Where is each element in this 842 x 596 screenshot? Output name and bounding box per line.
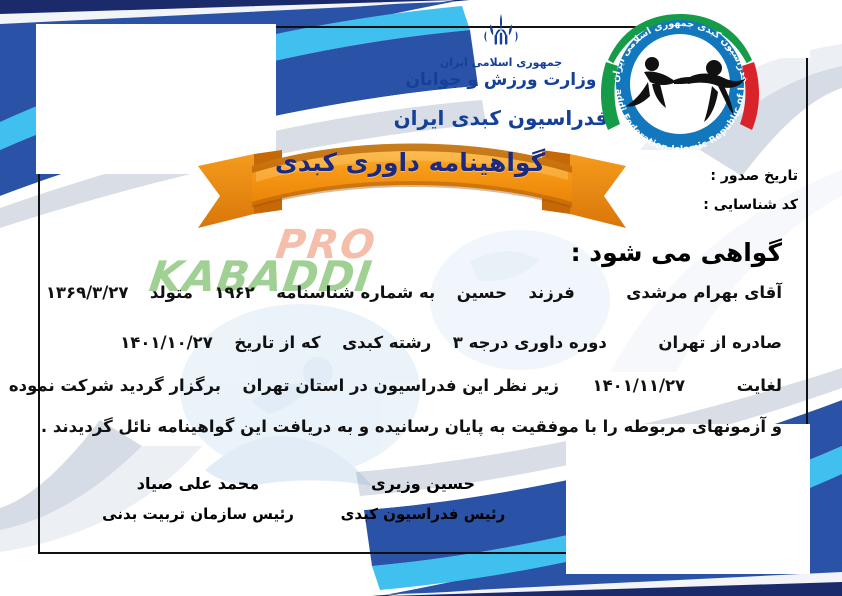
from-date-label: که از تاریخ <box>234 333 320 352</box>
signature-role-organization: رئیس سازمان تربیت بدنی <box>88 505 308 523</box>
signature-block-federation-president: حسین وزیری رئیس فدراسیون کبدی <box>318 474 528 523</box>
body-line-4: و آزمونهای مربوطه را با موفقیت به پایان … <box>60 417 782 436</box>
certificate-page: PRO KABADDI <box>0 0 842 596</box>
supervision-text: زیر نظر این فدراسیون در استان تهران <box>243 376 560 395</box>
certify-headline: گواهی می شود : <box>571 238 782 267</box>
signature-name-federation: حسین وزیری <box>318 474 528 493</box>
until-label: لغایت <box>737 376 782 395</box>
signature-name-organization: محمد علی صیاد <box>88 474 308 493</box>
birth-date-value: ۱۳۶۹/۳/۲۷ <box>46 283 129 302</box>
signature-role-federation: رئیس فدراسیون کبدی <box>318 505 528 523</box>
ministry-line-2: وزارت ورزش و جوانان <box>386 70 616 90</box>
iran-emblem-icon <box>478 12 524 54</box>
parent-label: فرزند <box>528 283 574 302</box>
certificate-meta-fields: تاریخ صدور : کد شناسایی : <box>703 168 798 226</box>
until-date-value: ۱۴۰۱/۱۱/۲۷ <box>593 376 686 395</box>
body-line-2: صادره از تهران دوره داوری درجه ۳ رشته کب… <box>60 333 782 352</box>
id-number-value: ۱۹۶۲ <box>214 283 254 302</box>
birth-label: متولد <box>150 283 193 302</box>
ribbon-title-text: گواهینامه داوری کبدی <box>196 148 624 177</box>
recipient-name: آقای بهرام مرشدی <box>626 283 782 302</box>
id-code-label: کد شناسایی : <box>703 197 798 213</box>
body-line-1: آقای بهرام مرشدی فرزند حسین به شماره شنا… <box>60 283 782 302</box>
parent-name: حسین <box>457 283 507 302</box>
issue-date-label: تاریخ صدور : <box>703 168 798 184</box>
held-text: برگزار گردید شرکت نموده <box>9 376 221 395</box>
ministry-line-1: جمهوری اسلامی ایران <box>386 56 616 69</box>
body-line-3: لغایت ۱۴۰۱/۱۱/۲۷ زیر نظر این فدراسیون در… <box>60 376 782 395</box>
signature-block-sports-organization: محمد علی صیاد رئیس سازمان تربیت بدنی <box>88 474 308 523</box>
from-date-value: ۱۴۰۱/۱۰/۲۷ <box>120 333 213 352</box>
discipline-name: رشته کبدی <box>342 333 431 352</box>
ministry-header: جمهوری اسلامی ایران وزارت ورزش و جوانان <box>386 12 616 90</box>
issued-from: صادره از تهران <box>658 333 782 352</box>
course-name: دوره داوری درجه ۳ <box>453 333 607 352</box>
id-number-label: به شماره شناسنامه <box>276 283 435 302</box>
